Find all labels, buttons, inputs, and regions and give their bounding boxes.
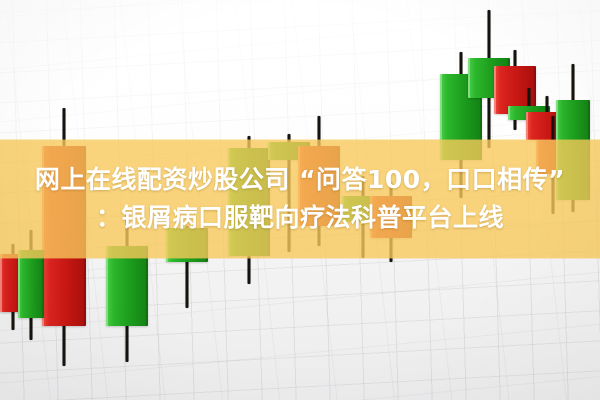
candle-body-up	[18, 250, 44, 318]
banner-headline-line-2: ：银屑病口服靶向疗法科普平台上线	[96, 199, 504, 237]
candle-body-up	[106, 246, 148, 326]
candlestick-banner-image: 网上在线配资炒股公司 “问答100，口口相传” ：银屑病口服靶向疗法科普平台上线	[0, 0, 600, 400]
banner-headline-line-1: 网上在线配资炒股公司 “问答100，口口相传”	[35, 161, 565, 199]
banner-text-block: 网上在线配资炒股公司 “问答100，口口相传” ：银屑病口服靶向疗法科普平台上线	[0, 140, 600, 258]
